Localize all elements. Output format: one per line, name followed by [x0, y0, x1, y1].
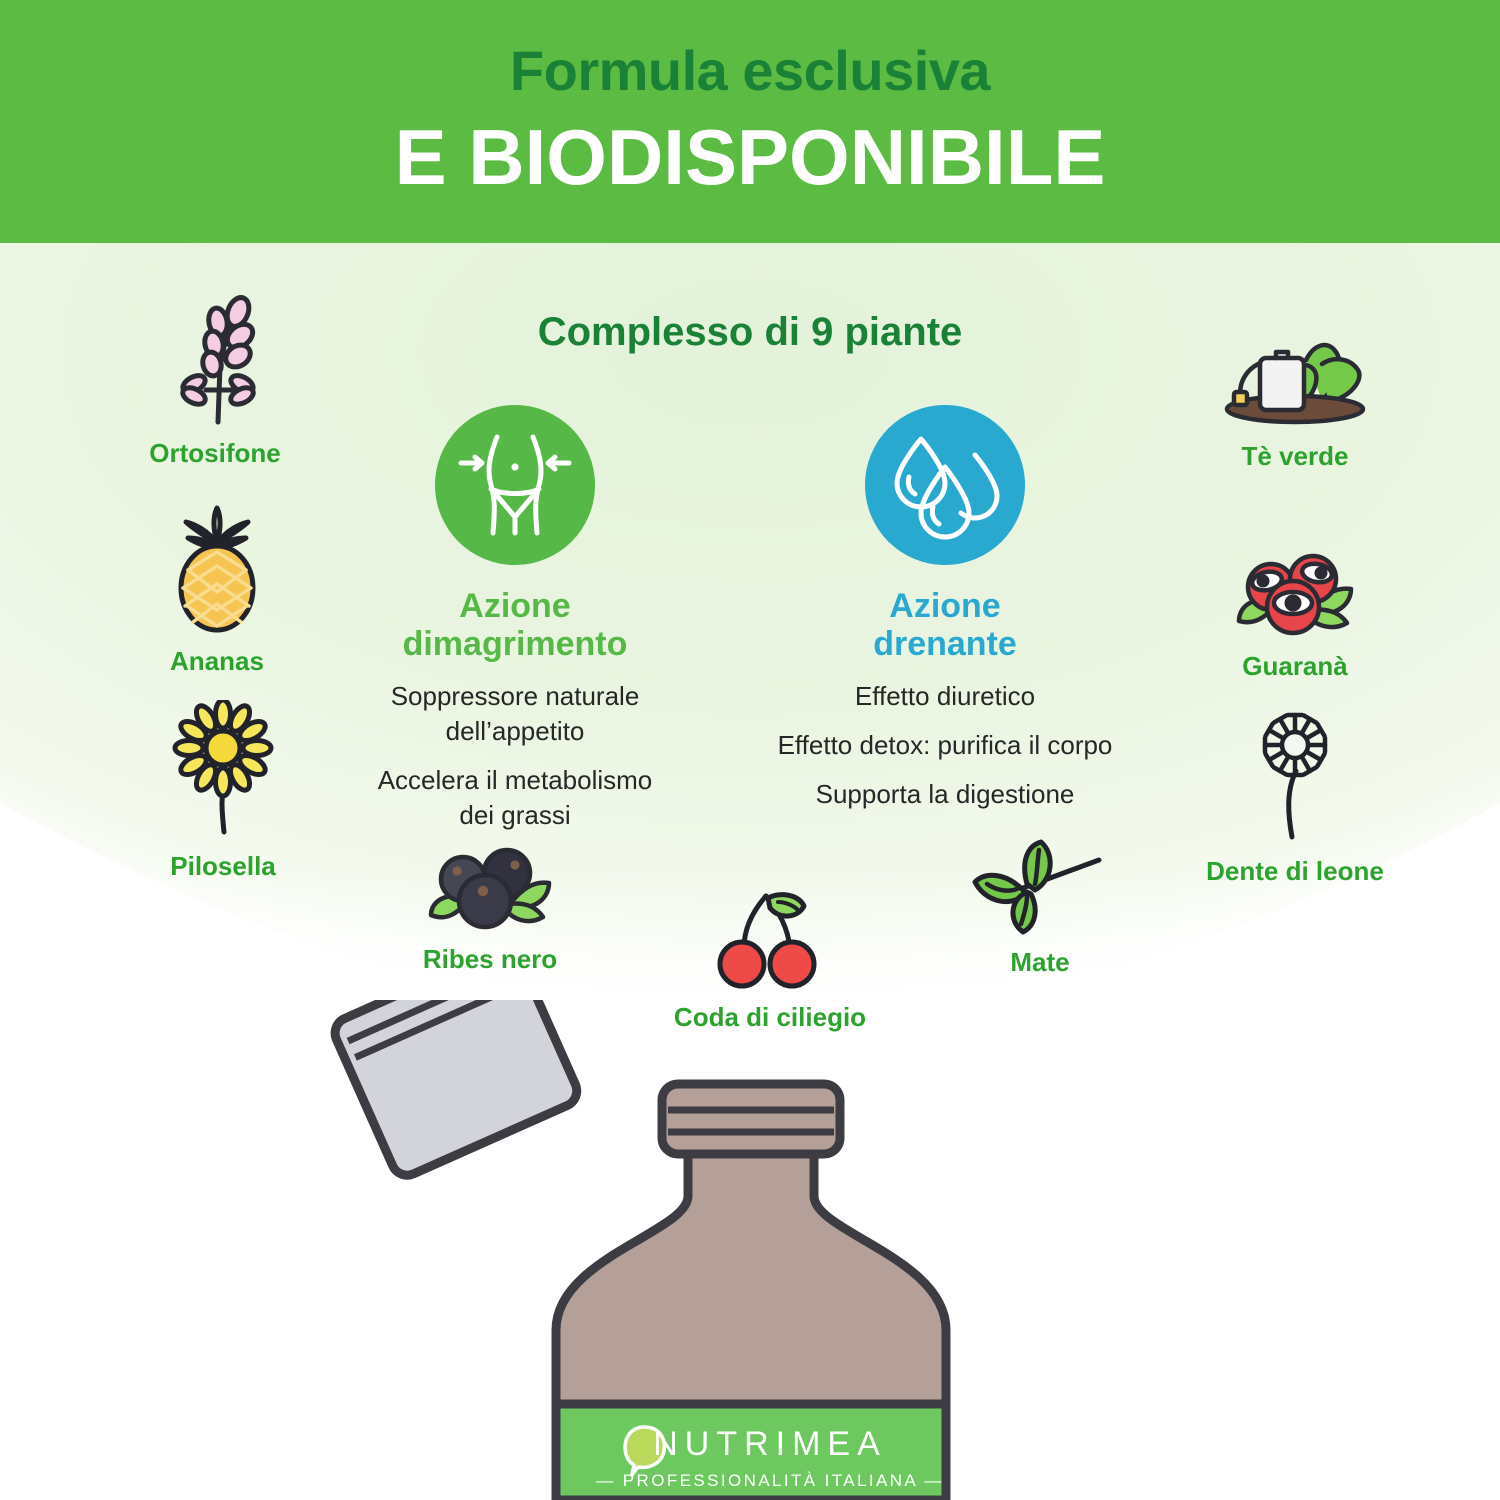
plant-label: Ananas: [112, 646, 322, 677]
action-block-slimming: Azione dimagrimento Soppressore naturale…: [305, 405, 725, 848]
plant-item-ananas: Ananas: [112, 500, 322, 677]
yellow-daisy-flower-icon: [158, 700, 288, 845]
plant-item-pilosella: Pilosella: [118, 700, 328, 882]
plant-item-guarana: Guaranà: [1185, 545, 1405, 682]
product-group: NUTRIMEA — PROFESSIONALITÀ ITALIANA —: [0, 1000, 1500, 1500]
guarana-berries-icon: [1215, 545, 1375, 645]
plant-label: Dente di leone: [1180, 856, 1410, 887]
action-title-line2: dimagrimento: [403, 625, 628, 663]
cherries-icon: [700, 886, 840, 996]
benefit-line: dei grassi: [459, 800, 570, 830]
plant-label: Pilosella: [118, 851, 328, 882]
infographic-canvas: Formula esclusiva E BIODISPONIBILE Compl…: [0, 0, 1500, 1500]
benefit-item: Soppressore naturale dell’appetito: [305, 679, 725, 749]
plant-item-ribes-nero: Ribes nero: [390, 843, 590, 975]
action-title-line1: Azione: [889, 587, 1000, 625]
plant-label: Ortosifone: [110, 438, 320, 469]
dandelion-icon: [1230, 705, 1360, 850]
action-title-draining: Azione drenante: [735, 587, 1155, 663]
benefit-item: Supporta la digestione: [735, 777, 1155, 812]
plant-item-dente-di-leone: Dente di leone: [1180, 705, 1410, 887]
plant-label: Guaranà: [1185, 651, 1405, 682]
plant-item-te-verde: Tè verde: [1180, 330, 1410, 472]
benefit-line: dell’appetito: [446, 716, 585, 746]
plant-label: Mate: [945, 947, 1135, 978]
plant-item-mate: Mate: [945, 836, 1135, 978]
action-title-slimming: Azione dimagrimento: [305, 587, 725, 663]
pineapple-icon: [152, 500, 282, 640]
header-subtitle: Formula esclusiva: [0, 38, 1500, 103]
action-title-line1: Azione: [459, 587, 570, 625]
action-benefits-draining: Effetto diuretico Effetto detox: purific…: [735, 679, 1155, 812]
orthosiphon-flower-icon: [150, 292, 280, 432]
tea-bag-leaves-icon: [1210, 330, 1380, 435]
benefit-item: Effetto diuretico: [735, 679, 1155, 714]
mate-leaves-icon: [965, 836, 1115, 941]
plant-item-ortosifone: Ortosifone: [110, 292, 320, 469]
waist-slimming-icon: [435, 405, 595, 565]
benefit-line: Soppressore naturale: [391, 681, 640, 711]
action-title-line2: drenante: [873, 625, 1017, 663]
brand-name: NUTRIMEA: [653, 1425, 887, 1463]
benefit-item: Accelera il metabolismo dei grassi: [305, 763, 725, 833]
action-benefits-slimming: Soppressore naturale dell’appetito Accel…: [305, 679, 725, 833]
supplement-bottle-icon: NUTRIMEA — PROFESSIONALITÀ ITALIANA —: [556, 1084, 946, 1500]
section-heading: Complesso di 9 piante: [280, 310, 1220, 355]
sachet-pouch-icon: [330, 1000, 582, 1180]
water-drops-icon: [865, 405, 1025, 565]
action-block-draining: Azione drenante Effetto diuretico Effett…: [735, 405, 1155, 826]
plant-label: Tè verde: [1180, 441, 1410, 472]
brand-tagline: — PROFESSIONALITÀ ITALIANA —: [596, 1471, 943, 1490]
plant-label: Ribes nero: [390, 944, 590, 975]
banner-notch: [0, 243, 1500, 293]
benefit-item: Effetto detox: purifica il corpo: [735, 728, 1155, 763]
blackcurrant-berries-icon: [415, 843, 565, 938]
header-title: E BIODISPONIBILE: [0, 112, 1500, 203]
benefit-line: Accelera il metabolismo: [378, 765, 653, 795]
